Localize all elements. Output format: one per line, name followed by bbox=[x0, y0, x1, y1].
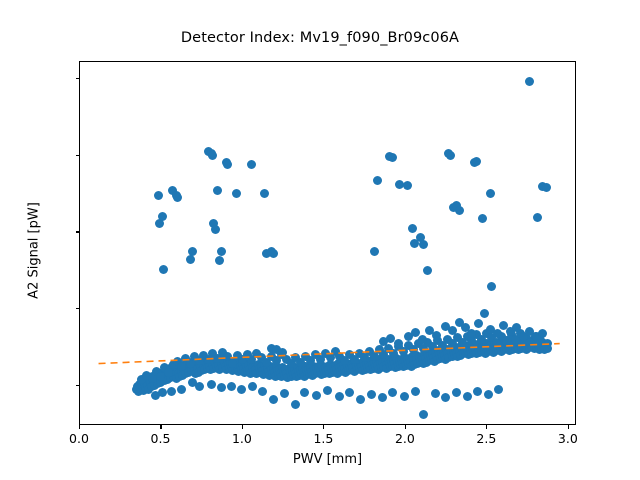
data-point bbox=[452, 388, 461, 397]
data-point bbox=[411, 387, 420, 396]
data-point bbox=[217, 383, 226, 392]
data-point bbox=[373, 176, 382, 185]
data-point bbox=[177, 385, 186, 394]
data-point bbox=[186, 255, 195, 264]
data-point bbox=[300, 388, 309, 397]
data-point bbox=[446, 151, 455, 160]
data-point bbox=[345, 388, 354, 397]
data-point bbox=[494, 385, 503, 394]
data-point bbox=[211, 225, 220, 234]
data-point bbox=[195, 382, 204, 391]
x-tick-label: 2.5 bbox=[456, 431, 516, 446]
data-point bbox=[248, 382, 257, 391]
data-point bbox=[312, 391, 321, 400]
data-point bbox=[418, 335, 427, 344]
data-point bbox=[388, 388, 397, 397]
data-point bbox=[227, 382, 236, 391]
chart-figure: Detector Index: Mv19_f090_Br09c06A 0.002… bbox=[0, 0, 640, 480]
data-point bbox=[228, 359, 237, 368]
data-point bbox=[400, 392, 409, 401]
x-tick-mark bbox=[568, 425, 569, 429]
data-point bbox=[431, 389, 440, 398]
x-axis-label: PWV [mm] bbox=[79, 452, 576, 467]
x-tick-label: 2.0 bbox=[375, 431, 435, 446]
data-point bbox=[269, 395, 278, 404]
x-tick-mark bbox=[486, 425, 487, 429]
data-point bbox=[478, 214, 487, 223]
data-point bbox=[173, 193, 182, 202]
y-tick-mark bbox=[76, 155, 80, 156]
data-point bbox=[167, 387, 176, 396]
data-point bbox=[164, 368, 173, 377]
data-point bbox=[378, 393, 387, 402]
data-point bbox=[223, 160, 232, 169]
data-point bbox=[408, 224, 417, 233]
data-point bbox=[237, 385, 246, 394]
y-tick-mark bbox=[76, 78, 80, 79]
data-point bbox=[419, 240, 428, 249]
data-point bbox=[159, 265, 168, 274]
x-tick-mark bbox=[405, 425, 406, 429]
x-tick-mark bbox=[242, 425, 243, 429]
x-tick-label: 0.0 bbox=[49, 431, 109, 446]
data-point bbox=[388, 153, 397, 162]
data-point bbox=[291, 400, 300, 409]
data-point bbox=[474, 319, 483, 328]
y-tick-mark bbox=[76, 231, 80, 232]
data-point bbox=[484, 390, 493, 399]
data-point bbox=[356, 395, 365, 404]
data-point bbox=[542, 183, 551, 192]
x-tick-mark bbox=[323, 425, 324, 429]
chart-title: Detector Index: Mv19_f090_Br09c06A bbox=[0, 30, 640, 46]
data-point bbox=[486, 189, 495, 198]
x-tick-label: 1.5 bbox=[293, 431, 353, 446]
data-point bbox=[463, 392, 472, 401]
data-point bbox=[278, 348, 287, 357]
data-point bbox=[154, 191, 163, 200]
data-point bbox=[533, 213, 542, 222]
y-axis-label: A2 Signal [pW] bbox=[27, 69, 42, 433]
data-point bbox=[269, 249, 278, 258]
data-point bbox=[232, 189, 241, 198]
data-point bbox=[177, 362, 186, 371]
x-tick-mark bbox=[79, 425, 80, 429]
data-point bbox=[403, 181, 412, 190]
data-point bbox=[370, 247, 379, 256]
data-point bbox=[208, 151, 217, 160]
y-tick-mark bbox=[76, 308, 80, 309]
data-point bbox=[213, 186, 222, 195]
x-tick-label: 0.5 bbox=[130, 431, 190, 446]
data-point bbox=[280, 389, 289, 398]
data-point bbox=[158, 388, 167, 397]
data-point bbox=[260, 189, 269, 198]
y-tick-mark bbox=[76, 385, 80, 386]
data-point bbox=[538, 329, 547, 338]
data-point bbox=[455, 206, 464, 215]
data-point bbox=[467, 329, 476, 338]
data-point bbox=[423, 266, 432, 275]
data-point bbox=[217, 247, 226, 256]
data-point bbox=[441, 393, 450, 402]
data-point bbox=[335, 392, 344, 401]
data-point bbox=[487, 282, 496, 291]
data-point bbox=[158, 212, 167, 221]
data-point bbox=[419, 410, 428, 419]
data-point bbox=[188, 247, 197, 256]
x-tick-mark bbox=[160, 425, 161, 429]
data-point bbox=[247, 160, 256, 169]
x-tick-label: 1.0 bbox=[212, 431, 272, 446]
data-point bbox=[323, 386, 332, 395]
data-point bbox=[367, 390, 376, 399]
data-point bbox=[473, 387, 482, 396]
x-tick-label: 3.0 bbox=[538, 431, 598, 446]
data-point bbox=[258, 387, 267, 396]
data-point bbox=[525, 77, 534, 86]
data-point bbox=[215, 256, 224, 265]
data-point bbox=[207, 380, 216, 389]
data-point bbox=[493, 329, 502, 338]
data-point bbox=[480, 309, 489, 318]
plot-area bbox=[79, 61, 576, 425]
data-point bbox=[472, 157, 481, 166]
